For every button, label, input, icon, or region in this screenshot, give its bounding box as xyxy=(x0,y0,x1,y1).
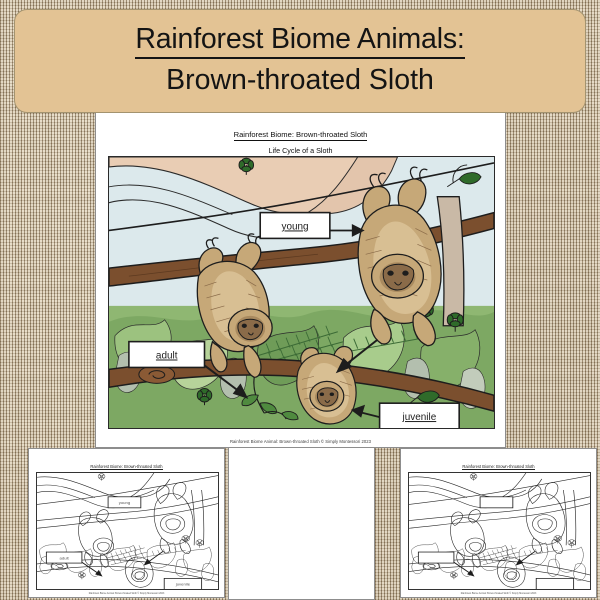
main-card-title: Rainforest Biome: Brown-throated Sloth xyxy=(234,130,368,141)
life-cycle-illustration-blackline-labeled: young adult juvenile xyxy=(36,472,219,590)
title-line-1: Rainforest Biome Animals: xyxy=(135,24,464,59)
thumb-left-title: Rainforest Biome: Brown-throated Sloth xyxy=(90,464,162,470)
thumbnail-hidden-card[interactable] xyxy=(228,441,375,600)
thumb-right-label-box-juvenile xyxy=(536,578,573,589)
thumb-right-label-box-young xyxy=(480,497,513,508)
thumbnail-blackline-labeled[interactable]: Rainforest Biome: Brown-throated Sloth L… xyxy=(28,448,225,598)
label-adult-text: adult xyxy=(156,351,178,362)
main-card-subtitle: Life Cycle of a Sloth xyxy=(96,147,505,156)
thumb-left-label-young: young xyxy=(119,500,130,505)
main-card-footer: Rainforest Biome Animal: Brown-throated … xyxy=(96,439,505,444)
title-banner: Rainforest Biome Animals: Brown-throated… xyxy=(14,9,586,113)
life-cycle-illustration-color: young adult juvenile xyxy=(108,156,495,429)
main-poster-card[interactable]: Rainforest Biome: Brown-throated Sloth L… xyxy=(95,112,506,448)
thumb-right-footer: Rainforest Biome Animal: Brown-throated … xyxy=(401,593,596,595)
thumb-right-label-box-adult xyxy=(418,552,454,563)
thumbnail-blackline-blank[interactable]: Rainforest Biome: Brown-throated Sloth L… xyxy=(400,448,597,598)
life-cycle-illustration-blackline-blank xyxy=(408,472,591,590)
label-juvenile-text: juvenile xyxy=(402,412,437,423)
thumb-left-label-juvenile: juvenile xyxy=(175,582,191,587)
thumb-left-footer: Rainforest Biome Animal: Brown-throated … xyxy=(29,593,224,595)
thumb-left-label-adult: adult xyxy=(60,555,70,560)
title-line-2: Brown-throated Sloth xyxy=(166,63,434,97)
main-card-header: Rainforest Biome: Brown-throated Sloth L… xyxy=(96,113,505,155)
thumb-right-title: Rainforest Biome: Brown-throated Sloth xyxy=(462,464,534,470)
label-young-text: young xyxy=(281,221,308,232)
